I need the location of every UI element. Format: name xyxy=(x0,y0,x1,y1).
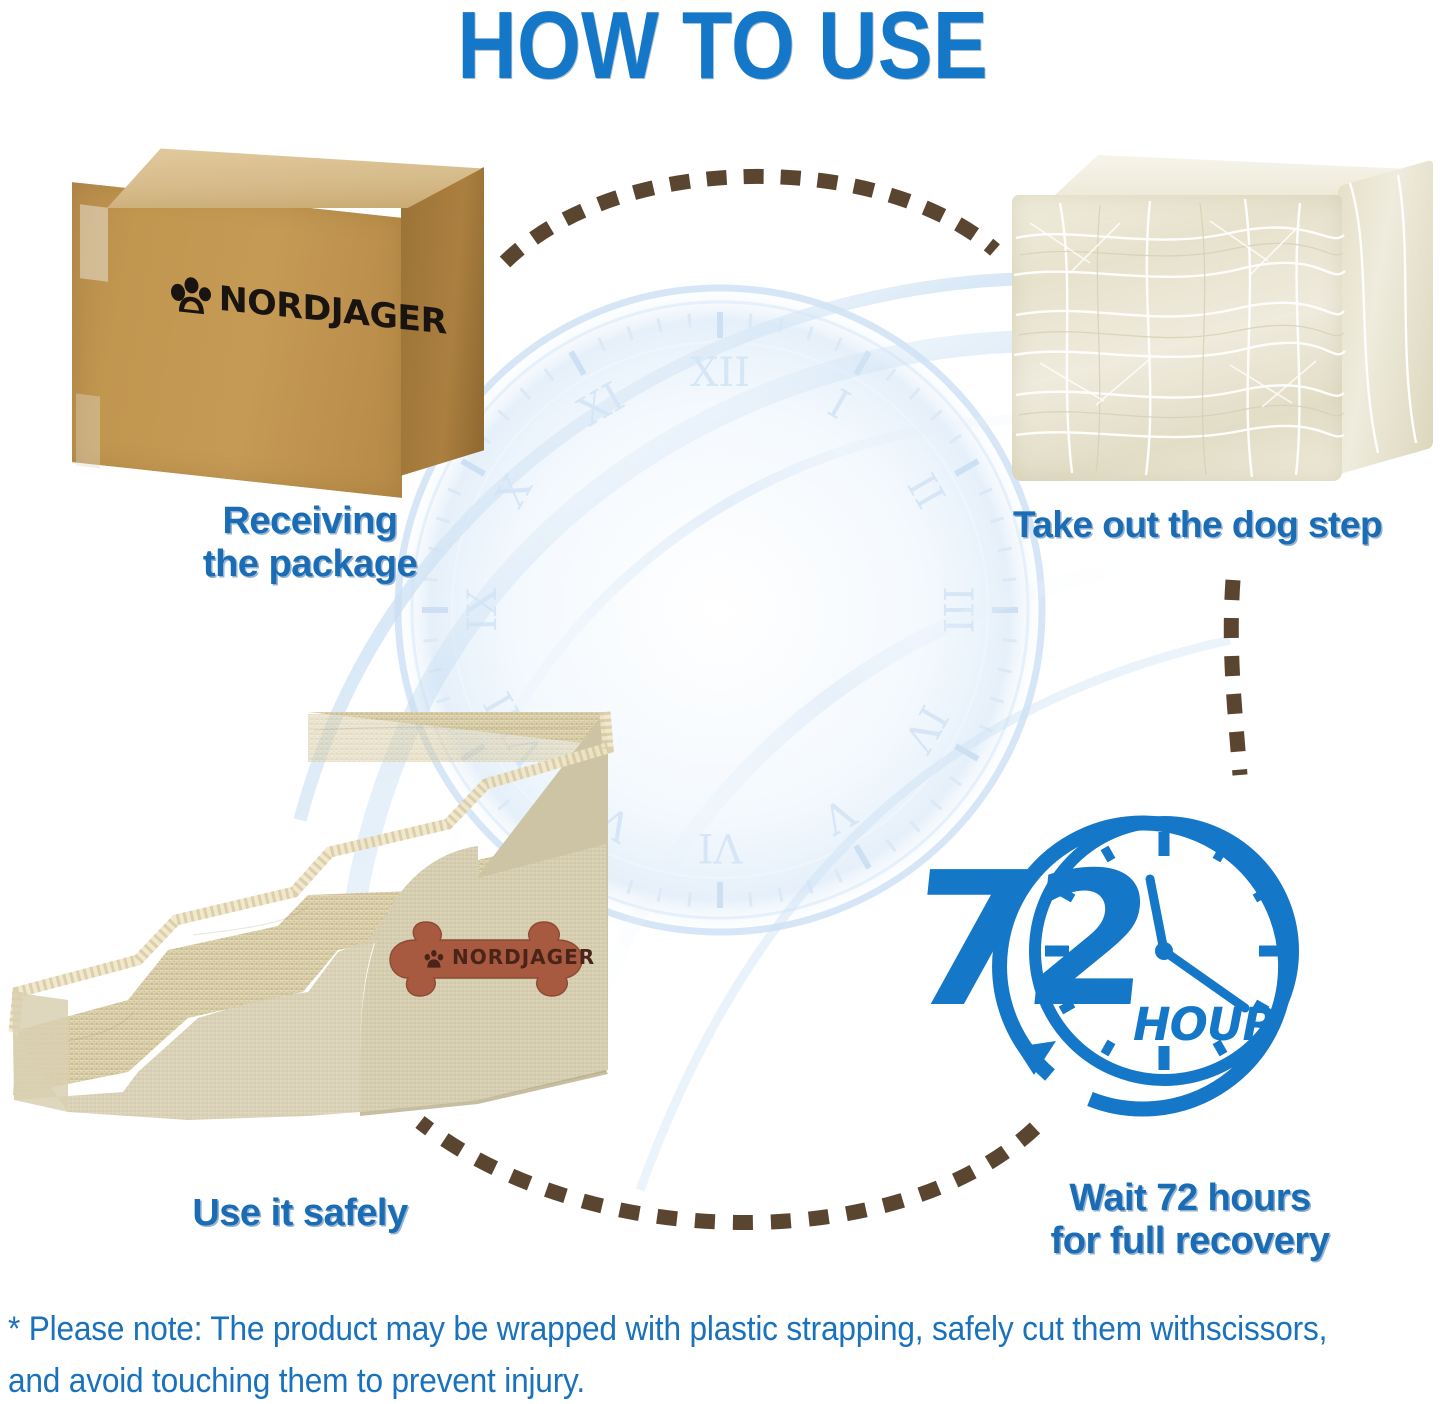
clock-hands xyxy=(1150,879,1245,1008)
page-title: HOW TO USE xyxy=(101,0,1344,94)
infographic-canvas: IIIIIIIVVVIVIIVIIIIXXXIXII HOW TO USE xyxy=(0,0,1445,1404)
box-tape-flap xyxy=(80,204,108,281)
plastic-wrapped-package-image xyxy=(1000,143,1443,490)
caption-wait-72-hours: Wait 72 hours for full recovery xyxy=(980,1177,1400,1263)
cardboard-box-image: NORDJAGER xyxy=(62,140,492,495)
box-bottom-flap xyxy=(76,394,100,469)
footnote-text: Please note: The product may be wrapped … xyxy=(8,1310,1327,1400)
svg-text:I: I xyxy=(820,381,857,429)
svg-text:XII: XII xyxy=(690,350,750,396)
dashed-arrow-top xyxy=(505,176,995,262)
box-top-face xyxy=(70,146,482,208)
footnote-please-note: * Please note: The product may be wrappe… xyxy=(8,1303,1329,1404)
clock-number-72: 72 xyxy=(901,848,1153,1033)
wrap-crinkle-texture xyxy=(1000,143,1443,490)
svg-text:IV: IV xyxy=(894,698,957,761)
clock-72-hour-graphic: 72 HOUR xyxy=(900,775,1330,1125)
dashed-arrow-right xyxy=(1231,580,1240,775)
svg-text:II: II xyxy=(897,466,953,516)
caption-take-out-the-dog-step: Take out the dog step xyxy=(950,503,1445,546)
svg-text:XI: XI xyxy=(571,374,632,436)
paw-print-icon xyxy=(170,275,212,317)
clock-unit-hour: HOUR xyxy=(1133,998,1276,1051)
svg-text:III: III xyxy=(934,586,980,633)
svg-text:IX: IX xyxy=(460,587,506,632)
caption-receiving-the-package: Receiving the package xyxy=(100,500,520,586)
caption-use-it-safely: Use it safely xyxy=(70,1192,530,1235)
box-front-face xyxy=(72,182,402,498)
footnote-marker: * xyxy=(8,1310,20,1348)
dog-step-product-image: NORDJAGER xyxy=(8,700,633,1155)
svg-text:VI: VI xyxy=(698,824,744,870)
svg-text:V: V xyxy=(814,788,864,843)
tag-brand-text: NORDJAGER xyxy=(452,945,595,969)
